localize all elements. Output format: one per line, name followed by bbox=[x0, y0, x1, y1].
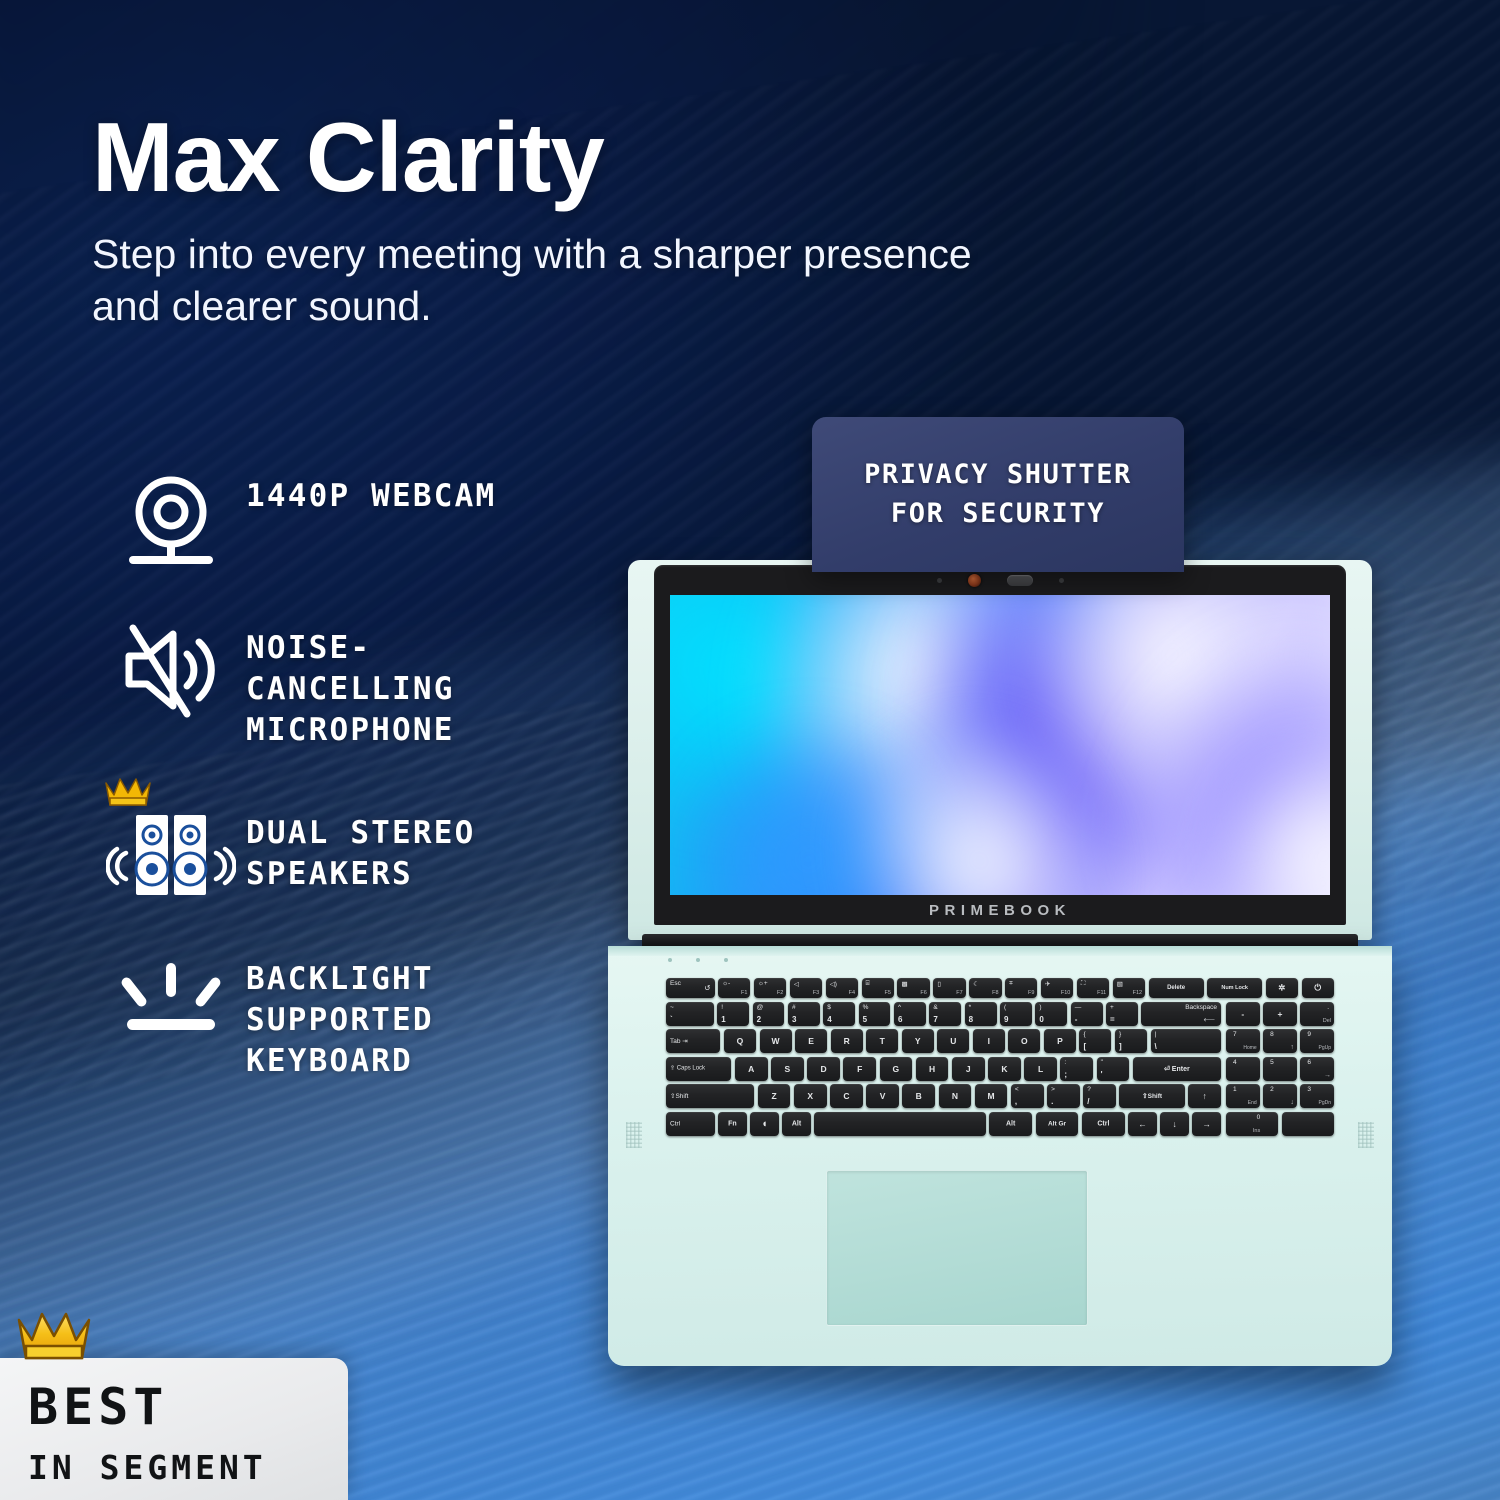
key-alt-left[interactable]: Alt bbox=[782, 1112, 811, 1136]
laptop-product-image: PRIMEBOOK Esc↺ ☼-F1 ☼+F2 ◁F3 ◁)F4 ⌸F5 ▩F… bbox=[608, 560, 1388, 1370]
numpad-plus[interactable]: + bbox=[1263, 1002, 1297, 1026]
key-j[interactable]: J bbox=[952, 1057, 985, 1081]
backlight-icon bbox=[96, 953, 246, 1041]
badge-line-1: BEST bbox=[28, 1382, 348, 1432]
key-h[interactable]: H bbox=[916, 1057, 949, 1081]
numpad-0-ins[interactable]: 0Ins bbox=[1226, 1112, 1278, 1136]
key-u[interactable]: U bbox=[937, 1029, 969, 1053]
stereo-speakers-icon bbox=[96, 807, 246, 903]
numpad-8-up[interactable]: 8↑ bbox=[1263, 1029, 1297, 1053]
key-semicolon[interactable]: :; bbox=[1060, 1057, 1093, 1081]
key-f8[interactable]: ☾F8 bbox=[969, 978, 1001, 998]
key-f3[interactable]: ◁F3 bbox=[790, 978, 822, 998]
key-minus[interactable]: —- bbox=[1071, 1002, 1103, 1026]
key-1[interactable]: !1 bbox=[717, 1002, 749, 1026]
key-f9[interactable]: ⌗F9 bbox=[1005, 978, 1037, 998]
feature-item-speakers: DUAL STEREO SPEAKERS bbox=[96, 807, 636, 903]
mic-hole-left bbox=[937, 578, 942, 583]
key-ctrl-right[interactable]: Ctrl bbox=[1082, 1112, 1125, 1136]
key-altgr[interactable]: Alt Gr bbox=[1036, 1112, 1079, 1136]
key-capslock[interactable]: ⇪ Caps Lock bbox=[666, 1057, 731, 1081]
key-f[interactable]: F bbox=[843, 1057, 876, 1081]
key-g[interactable]: G bbox=[880, 1057, 913, 1081]
key-l[interactable]: L bbox=[1024, 1057, 1057, 1081]
camera-lens-icon bbox=[968, 574, 981, 587]
key-esc[interactable]: Esc↺ bbox=[666, 978, 715, 998]
key-8[interactable]: *8 bbox=[965, 1002, 997, 1026]
numpad-5[interactable]: 5 bbox=[1263, 1057, 1297, 1081]
mic-hole-right bbox=[1059, 578, 1064, 583]
speaker-grill-left bbox=[626, 1122, 642, 1148]
key-backspace[interactable]: Backspace⟵ bbox=[1141, 1002, 1221, 1026]
numpad-blank bbox=[1282, 1112, 1334, 1136]
key-f2[interactable]: ☼+F2 bbox=[754, 978, 786, 998]
numpad-9-pgup[interactable]: 9PgUp bbox=[1300, 1029, 1334, 1053]
key-comma[interactable]: <, bbox=[1011, 1084, 1044, 1108]
feature-label: 1440P WEBCAM bbox=[246, 470, 496, 517]
best-in-segment-badge: BEST IN SEGMENT bbox=[0, 1358, 348, 1500]
key-arrow-down[interactable]: ↓ bbox=[1160, 1112, 1189, 1136]
key-bracket-left[interactable]: {[ bbox=[1079, 1029, 1111, 1053]
badge-line-2: IN SEGMENT bbox=[28, 1448, 348, 1487]
numpad-4[interactable]: 4 bbox=[1226, 1057, 1260, 1081]
desktop-wallpaper bbox=[670, 595, 1330, 895]
key-numlock[interactable]: Num Lock bbox=[1207, 978, 1262, 998]
muted-speaker-icon bbox=[96, 622, 246, 718]
key-shift-right[interactable]: ⇧Shift bbox=[1119, 1084, 1184, 1108]
key-v[interactable]: V bbox=[866, 1084, 899, 1108]
headline-block: Max Clarity Step into every meeting with… bbox=[92, 108, 1092, 333]
keyboard-row-qwerty[interactable]: Tab ⇥ Q W E R T Y U I O P {[ }] |\ bbox=[666, 1029, 1221, 1053]
key-2[interactable]: @2 bbox=[753, 1002, 785, 1026]
key-f7[interactable]: ▯F7 bbox=[933, 978, 965, 998]
crown-icon bbox=[104, 773, 152, 807]
keyboard-row-home[interactable]: ⇪ Caps Lock A S D F G H J K L :; "' ⏎ En… bbox=[666, 1057, 1221, 1081]
key-quote[interactable]: "' bbox=[1097, 1057, 1130, 1081]
key-5[interactable]: %5 bbox=[859, 1002, 891, 1026]
key-delete[interactable]: Delete bbox=[1149, 978, 1204, 998]
key-t[interactable]: T bbox=[866, 1029, 898, 1053]
speaker-grill-right bbox=[1358, 1122, 1374, 1148]
page-title: Max Clarity bbox=[92, 108, 1092, 206]
key-q[interactable]: Q bbox=[724, 1029, 756, 1053]
privacy-shutter-slider[interactable] bbox=[1007, 575, 1033, 586]
laptop-bezel: PRIMEBOOK bbox=[654, 565, 1346, 925]
privacy-shutter-callout: PRIVACY SHUTTER FOR SECURITY bbox=[812, 417, 1184, 572]
key-f10[interactable]: ✈F10 bbox=[1041, 978, 1073, 998]
keyboard-row-shift[interactable]: ⇧Shift Z X C V B N M <, >. ?/ ⇧Shift ↑ bbox=[666, 1084, 1221, 1108]
numpad-row-1[interactable]: - + .Del bbox=[1226, 1002, 1334, 1026]
status-leds bbox=[668, 958, 728, 962]
feature-label: NOISE- CANCELLING MICROPHONE bbox=[246, 622, 455, 751]
numpad-row-3[interactable]: 4 5 6→ bbox=[1226, 1057, 1334, 1081]
key-4[interactable]: $4 bbox=[823, 1002, 855, 1026]
feature-label: DUAL STEREO SPEAKERS bbox=[246, 807, 476, 895]
key-f5[interactable]: ⌸F5 bbox=[862, 978, 894, 998]
key-bracket-right[interactable]: }] bbox=[1115, 1029, 1147, 1053]
webcam-icon bbox=[96, 470, 246, 570]
key-k[interactable]: K bbox=[988, 1057, 1021, 1081]
key-fn[interactable]: Fn bbox=[718, 1112, 747, 1136]
key-r[interactable]: R bbox=[831, 1029, 863, 1053]
laptop-screen bbox=[670, 595, 1330, 895]
key-arrow-left[interactable]: ← bbox=[1128, 1112, 1157, 1136]
key-s[interactable]: S bbox=[771, 1057, 804, 1081]
keyboard-row-bottom[interactable]: Ctrl Fn ◖ Alt Alt Alt Gr Ctrl ← ↓ → bbox=[666, 1112, 1221, 1136]
key-a[interactable]: A bbox=[735, 1057, 768, 1081]
key-w[interactable]: W bbox=[760, 1029, 792, 1053]
key-b[interactable]: B bbox=[902, 1084, 935, 1108]
numpad-minus[interactable]: - bbox=[1226, 1002, 1260, 1026]
key-3[interactable]: #3 bbox=[788, 1002, 820, 1026]
key-f6[interactable]: ▩F6 bbox=[897, 978, 929, 998]
key-arrow-right[interactable]: → bbox=[1192, 1112, 1221, 1136]
key-f1[interactable]: ☼-F1 bbox=[718, 978, 750, 998]
key-alt-right[interactable]: Alt bbox=[989, 1112, 1032, 1136]
key-0[interactable]: )0 bbox=[1035, 1002, 1067, 1026]
key-9[interactable]: (9 bbox=[1000, 1002, 1032, 1026]
key-6[interactable]: ^6 bbox=[894, 1002, 926, 1026]
feature-label: BACKLIGHT SUPPORTED KEYBOARD bbox=[246, 953, 434, 1082]
key-slash[interactable]: ?/ bbox=[1083, 1084, 1116, 1108]
key-d[interactable]: D bbox=[807, 1057, 840, 1081]
keyboard-row-function[interactable]: Esc↺ ☼-F1 ☼+F2 ◁F3 ◁)F4 ⌸F5 ▩F6 ▯F7 ☾F8 … bbox=[666, 978, 1334, 998]
keyboard-row-numbers[interactable]: ~` !1 @2 #3 $4 %5 ^6 &7 *8 (9 )0 —- += B… bbox=[666, 1002, 1221, 1026]
feature-list: 1440P WEBCAM NOISE- CANCELLING MICROPHON… bbox=[96, 470, 636, 1119]
feature-item-webcam: 1440P WEBCAM bbox=[96, 470, 636, 570]
key-f11[interactable]: ⛶F11 bbox=[1077, 978, 1109, 998]
laptop-lid: PRIMEBOOK bbox=[628, 560, 1372, 940]
laptop-base: Esc↺ ☼-F1 ☼+F2 ◁F3 ◁)F4 ⌸F5 ▩F6 ▯F7 ☾F8 … bbox=[608, 946, 1392, 1366]
crown-icon bbox=[16, 1306, 92, 1362]
numpad-row-4[interactable]: 1End 2↓ 3PgDn bbox=[1226, 1084, 1334, 1108]
numpad-row-2[interactable]: 7Home 8↑ 9PgUp bbox=[1226, 1029, 1334, 1053]
key-backtick[interactable]: ~` bbox=[666, 1002, 714, 1026]
numpad-row-5[interactable]: 0Ins bbox=[1226, 1112, 1334, 1136]
key-asterisk[interactable]: ✲ bbox=[1266, 978, 1298, 998]
key-p[interactable]: P bbox=[1044, 1029, 1076, 1053]
numpad-6-right[interactable]: 6→ bbox=[1300, 1057, 1334, 1081]
numpad-1-end[interactable]: 1End bbox=[1226, 1084, 1260, 1108]
key-ctrl-left[interactable]: Ctrl bbox=[666, 1112, 715, 1136]
numpad-7-home[interactable]: 7Home bbox=[1226, 1029, 1260, 1053]
key-power[interactable]: ⏻ bbox=[1302, 978, 1334, 998]
key-z[interactable]: Z bbox=[758, 1084, 791, 1108]
key-space[interactable] bbox=[814, 1112, 985, 1136]
key-period[interactable]: >. bbox=[1047, 1084, 1080, 1108]
key-y[interactable]: Y bbox=[902, 1029, 934, 1053]
brand-logo-key-icon[interactable]: ◖ bbox=[750, 1112, 779, 1136]
numpad-del[interactable]: .Del bbox=[1300, 1002, 1334, 1026]
key-backslash[interactable]: |\ bbox=[1151, 1029, 1222, 1053]
base-lip bbox=[608, 946, 1392, 956]
key-f12[interactable]: ▧F12 bbox=[1113, 978, 1145, 998]
brand-bar: PRIMEBOOK bbox=[654, 895, 1346, 925]
key-x[interactable]: X bbox=[794, 1084, 827, 1108]
key-7[interactable]: &7 bbox=[929, 1002, 961, 1026]
key-i[interactable]: I bbox=[973, 1029, 1005, 1053]
trackpad[interactable] bbox=[826, 1170, 1088, 1326]
key-enter[interactable]: ⏎ Enter bbox=[1133, 1057, 1221, 1081]
key-o[interactable]: O bbox=[1008, 1029, 1040, 1053]
feature-item-backlight: BACKLIGHT SUPPORTED KEYBOARD bbox=[96, 953, 636, 1082]
key-c[interactable]: C bbox=[830, 1084, 863, 1108]
key-shift-left[interactable]: ⇧Shift bbox=[666, 1084, 754, 1108]
feature-item-microphone: NOISE- CANCELLING MICROPHONE bbox=[96, 622, 636, 751]
keyboard-numpad[interactable]: - + .Del 7Home 8↑ 9PgUp 4 5 6→ bbox=[1226, 1002, 1334, 1136]
page-subtitle: Step into every meeting with a sharper p… bbox=[92, 228, 1092, 333]
key-equals[interactable]: += bbox=[1106, 1002, 1138, 1026]
key-e[interactable]: E bbox=[795, 1029, 827, 1053]
numpad-2-down[interactable]: 2↓ bbox=[1263, 1084, 1297, 1108]
key-tab[interactable]: Tab ⇥ bbox=[666, 1029, 720, 1053]
brand-name: PRIMEBOOK bbox=[929, 902, 1071, 919]
callout-text: PRIVACY SHUTTER FOR SECURITY bbox=[864, 456, 1132, 533]
numpad-3-pgdn[interactable]: 3PgDn bbox=[1300, 1084, 1334, 1108]
key-arrow-up[interactable]: ↑ bbox=[1188, 1084, 1221, 1108]
key-f4[interactable]: ◁)F4 bbox=[826, 978, 858, 998]
keyboard[interactable]: Esc↺ ☼-F1 ☼+F2 ◁F3 ◁)F4 ⌸F5 ▩F6 ▯F7 ☾F8 … bbox=[666, 978, 1334, 1136]
key-n[interactable]: N bbox=[939, 1084, 972, 1108]
key-m[interactable]: M bbox=[975, 1084, 1008, 1108]
